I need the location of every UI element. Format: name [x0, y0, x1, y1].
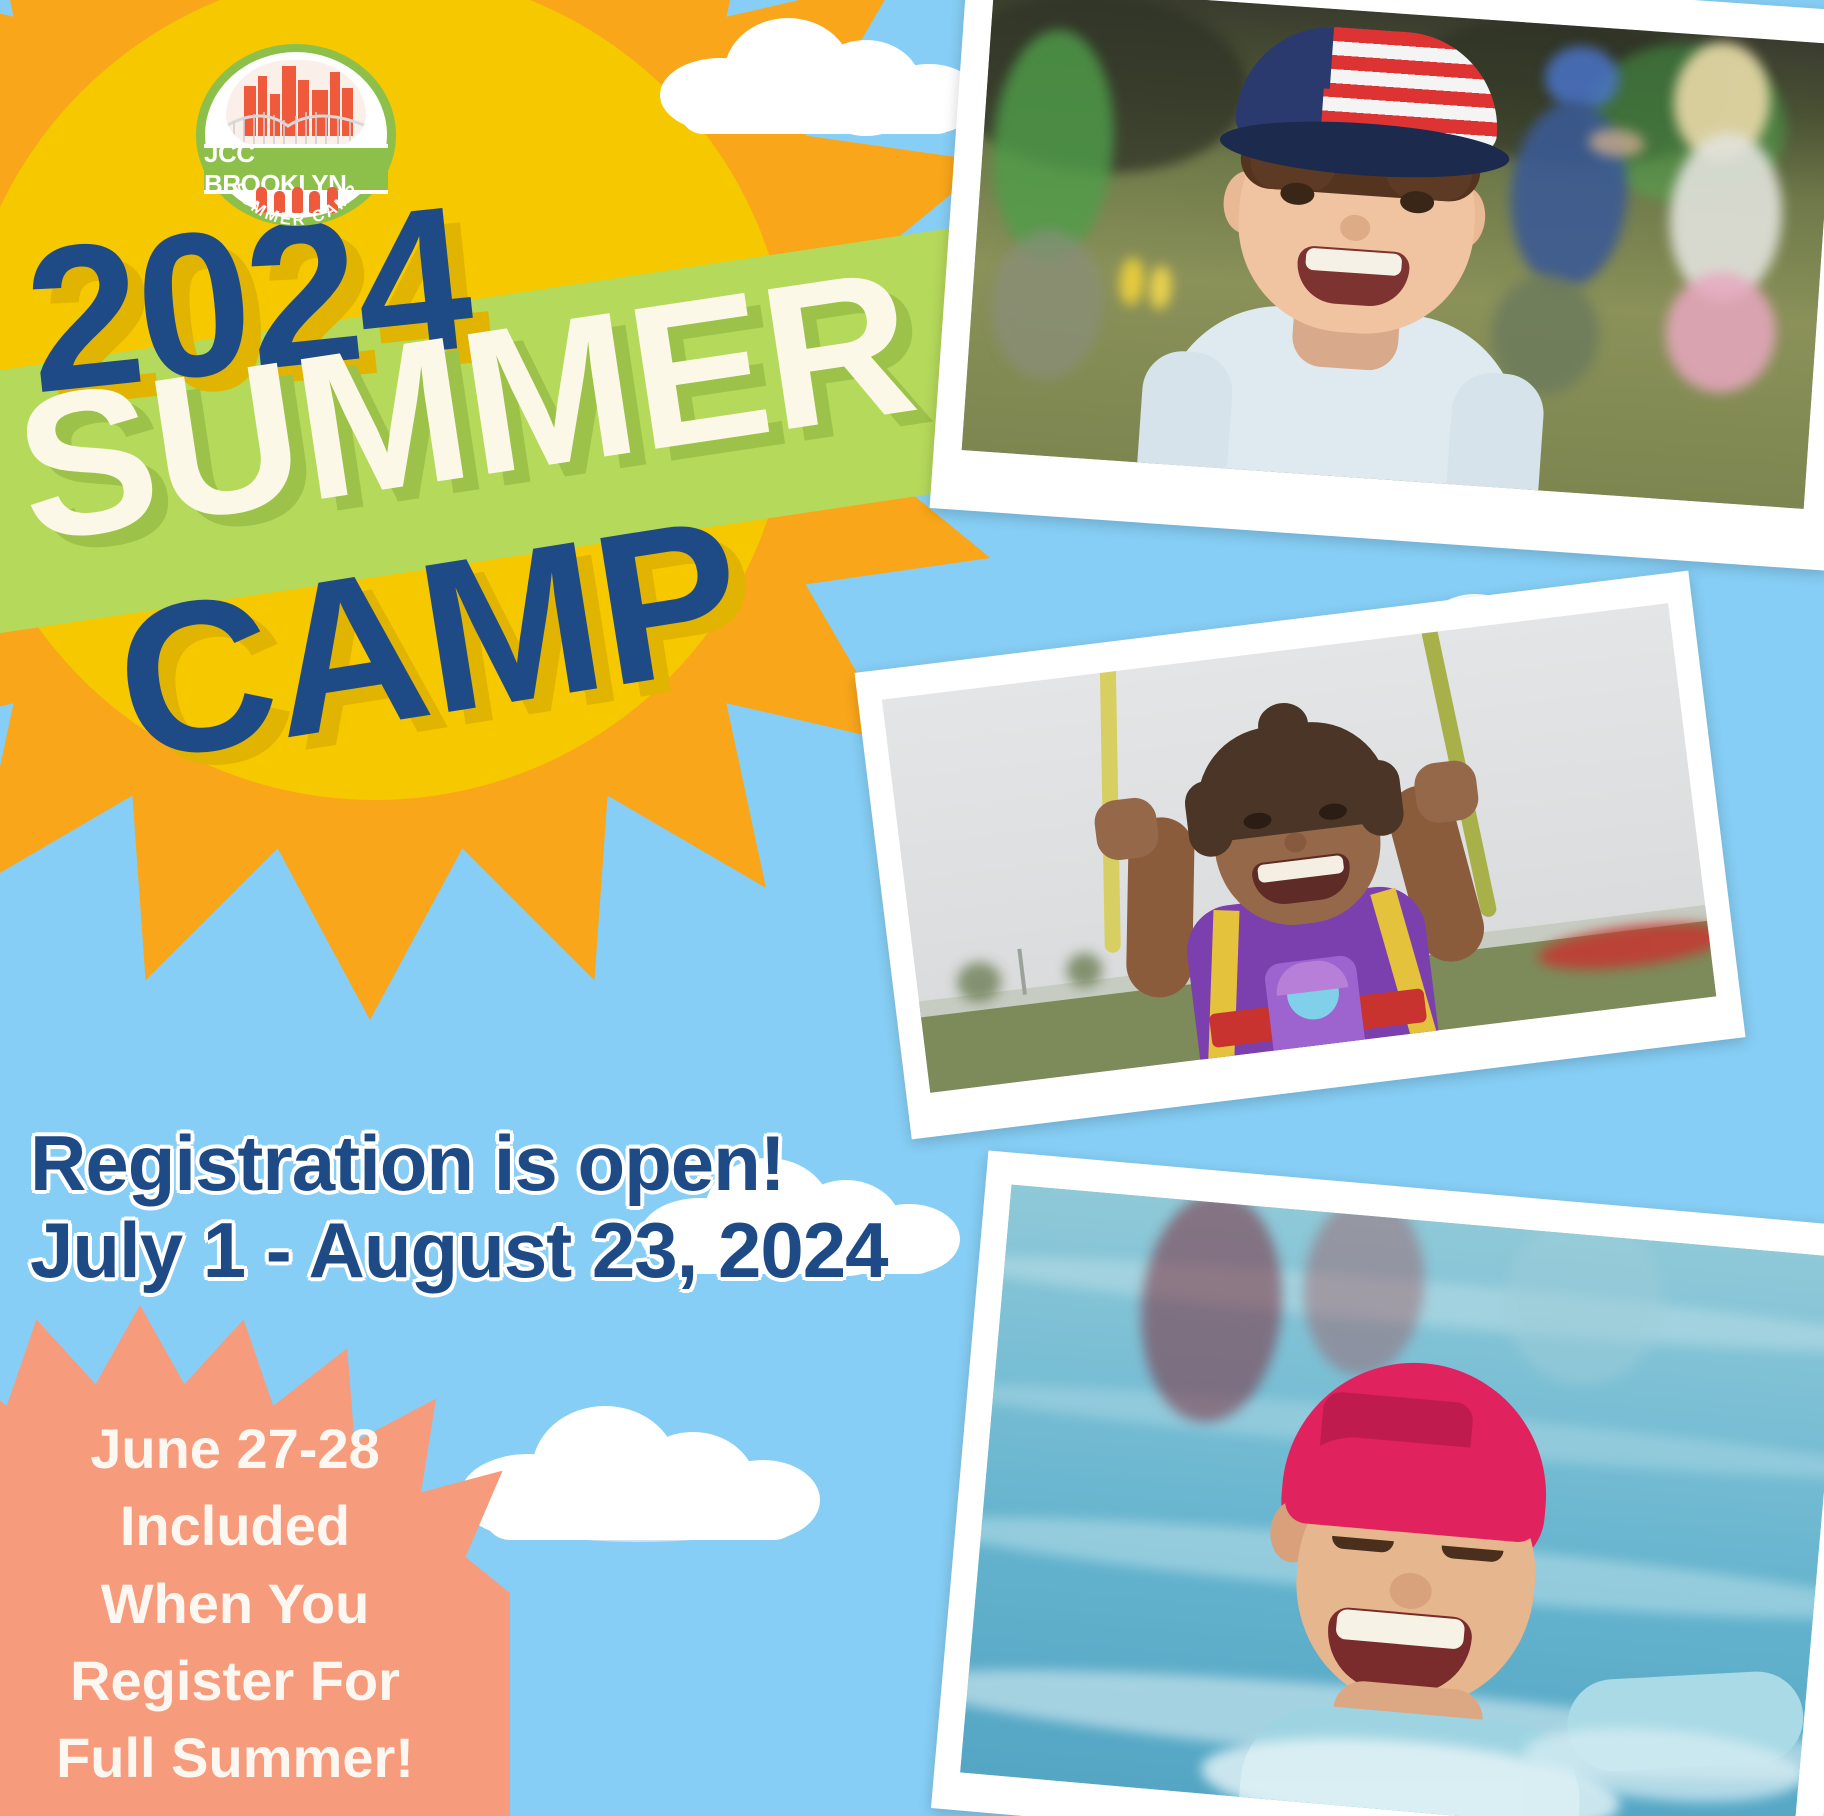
registration-dates: July 1 - August 23, 2024: [30, 1207, 887, 1294]
promo-text-block: June 27-28 Included When You Register Fo…: [0, 1410, 470, 1796]
cloud-icon-top-right: [660, 10, 980, 140]
promo-line-3: When You: [0, 1565, 470, 1642]
logo-tagline-label: SUMMER CAMP: [228, 180, 363, 226]
logo-tagline-arc: SUMMER CAMP: [196, 44, 396, 226]
photo-card-1: [930, 0, 1824, 571]
promo-line-2: Included: [0, 1487, 470, 1564]
jcc-brooklyn-summer-camp-logo-icon: JCC BROOKLYN SUMMER CAMP: [196, 44, 396, 226]
cloud-icon-bottom: [460, 1398, 820, 1548]
photo-card-2: [854, 571, 1745, 1140]
poster-canvas: 2024 SUMMER CAMP Registration is open! J…: [0, 0, 1824, 1816]
photo-card-3: [931, 1150, 1824, 1816]
registration-block: Registration is open! July 1 - August 23…: [30, 1120, 887, 1295]
promo-line-4: Register For: [0, 1642, 470, 1719]
promo-line-5: Full Summer!: [0, 1719, 470, 1796]
photo-girl-bungee: [882, 603, 1716, 1093]
photo-boy-swimming: [960, 1185, 1824, 1816]
promo-line-1: June 27-28: [0, 1410, 470, 1487]
photo-boy-flag-cap: [962, 0, 1824, 509]
svg-text:SUMMER CAMP: SUMMER CAMP: [228, 180, 363, 226]
registration-headline: Registration is open!: [30, 1120, 887, 1207]
